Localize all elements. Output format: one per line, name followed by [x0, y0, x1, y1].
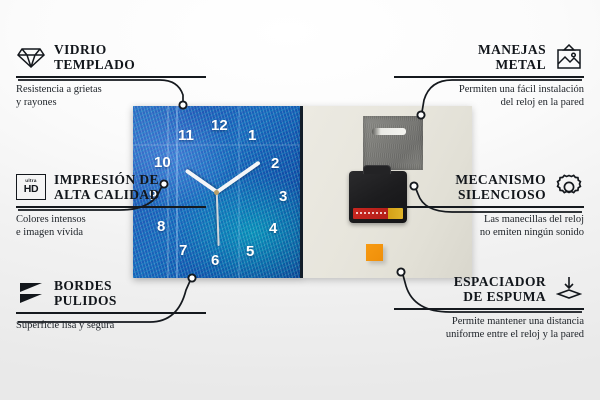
down-arrow-spacer-icon — [554, 274, 584, 304]
clock-numeral-7: 7 — [179, 243, 187, 258]
feature-title-line2: DE ESPUMA — [463, 289, 546, 304]
feature-title-line2: TEMPLADO — [54, 57, 135, 72]
clock-numeral-4: 4 — [269, 221, 277, 236]
wall-hanger-icon — [554, 42, 584, 72]
feature-desc-line2: uniforme entre el reloj y la pared — [446, 329, 584, 340]
clock-numeral-11: 11 — [178, 128, 194, 143]
hanger-slot — [372, 128, 406, 135]
feature-title: MECANISMO SILENCIOSO — [455, 172, 546, 202]
clock-numeral-6: 6 — [211, 253, 219, 268]
diamond-icon — [16, 42, 46, 72]
feature-title-line1: ESPACIADOR — [454, 274, 546, 289]
feature-description: Permite mantener una distancia uniforme … — [394, 315, 584, 341]
mechanism-tab — [363, 165, 391, 174]
feature-vidrio-templado[interactable]: VIDRIO TEMPLADO Resistencia a grietas y … — [16, 42, 206, 109]
feature-title-line1: IMPRESIÓN DE — [54, 172, 159, 187]
feature-description: Las manecillas del reloj no emiten ningú… — [394, 213, 584, 239]
feature-rule — [16, 312, 206, 314]
feature-manejas-metal[interactable]: MANEJAS METAL Permiten una fácil instala… — [394, 42, 584, 109]
ultra-hd-hd-text: HD — [24, 184, 39, 195]
feature-rule — [16, 206, 206, 208]
feature-desc-line1: Colores intensos — [16, 214, 86, 225]
feature-desc-line1: Permite mantener una distancia — [452, 316, 584, 327]
feature-head: ultra HD IMPRESIÓN DE ALTA CALIDAD — [16, 172, 206, 202]
feature-rule — [394, 76, 584, 78]
clock-numeral-12: 12 — [211, 118, 228, 133]
feature-head: VIDRIO TEMPLADO — [16, 42, 206, 72]
feature-head: MANEJAS METAL — [394, 42, 584, 72]
feature-bordes-pulidos[interactable]: BORDES PULIDOS Superficie lisa y segura — [16, 278, 206, 332]
clock-numeral-3: 3 — [279, 189, 287, 204]
feature-rule — [394, 308, 584, 310]
feature-espaciador-de-espuma[interactable]: ESPACIADOR DE ESPUMA Permite mantener un… — [394, 274, 584, 341]
feature-desc-line1: Superficie lisa y segura — [16, 320, 114, 331]
clock-numeral-2: 2 — [271, 156, 279, 171]
feature-description: Permiten una fácil instalación del reloj… — [394, 83, 584, 109]
feature-head: MECANISMO SILENCIOSO — [394, 172, 584, 202]
feature-rule — [16, 76, 206, 78]
gear-icon — [554, 172, 584, 202]
feature-title-line2: PULIDOS — [54, 293, 117, 308]
clock-numeral-5: 5 — [246, 244, 254, 259]
feature-rule — [394, 206, 584, 208]
feature-desc-line1: Permiten una fácil instalación — [459, 84, 584, 95]
foam-spacer — [366, 244, 383, 261]
feature-title-line2: METAL — [495, 57, 546, 72]
clock-center-pivot — [214, 190, 219, 195]
feature-desc-line1: Las manecillas del reloj — [484, 214, 584, 225]
feature-desc-line1: Resistencia a grietas — [16, 84, 102, 95]
feature-desc-line2: no emiten ningún sonido — [480, 227, 584, 238]
infographic-canvas: 12 1 2 3 4 5 6 7 8 9 10 11 — [0, 0, 600, 400]
feature-title-line1: MECANISMO — [455, 172, 546, 187]
feature-title: IMPRESIÓN DE ALTA CALIDAD — [54, 172, 160, 202]
metal-hanger-plate — [363, 116, 423, 170]
feature-title: VIDRIO TEMPLADO — [54, 42, 135, 72]
clock-second-hand — [216, 192, 219, 246]
feature-head: BORDES PULIDOS — [16, 278, 206, 308]
feature-title: MANEJAS METAL — [478, 42, 546, 72]
feature-description: Colores intensos e imagen vívida — [16, 213, 206, 239]
feature-description: Resistencia a grietas y rayones — [16, 83, 206, 109]
feature-desc-line2: e imagen vívida — [16, 227, 83, 238]
polished-edge-icon — [16, 278, 46, 308]
clock-minute-hand — [215, 161, 260, 194]
feature-desc-line2: del reloj en la pared — [501, 97, 584, 108]
feature-mecanismo-silencioso[interactable]: MECANISMO SILENCIOSO Las manecillas del … — [394, 172, 584, 239]
feature-title-line1: BORDES — [54, 278, 112, 293]
feature-title: ESPACIADOR DE ESPUMA — [454, 274, 546, 304]
ultra-hd-badge: ultra HD — [16, 174, 46, 200]
feature-title-line2: SILENCIOSO — [458, 187, 546, 202]
feature-impresion-alta-calidad[interactable]: ultra HD IMPRESIÓN DE ALTA CALIDAD Color… — [16, 172, 206, 239]
clock-numeral-1: 1 — [248, 128, 256, 143]
feature-title-line1: VIDRIO — [54, 42, 107, 57]
feature-title-line2: ALTA CALIDAD — [54, 187, 160, 202]
feature-desc-line2: y rayones — [16, 97, 57, 108]
clock-numeral-10: 10 — [154, 155, 171, 170]
feature-title: BORDES PULIDOS — [54, 278, 117, 308]
feature-title-line1: MANEJAS — [478, 42, 546, 57]
ultra-hd-icon: ultra HD — [16, 172, 46, 202]
feature-description: Superficie lisa y segura — [16, 319, 206, 332]
feature-head: ESPACIADOR DE ESPUMA — [394, 274, 584, 304]
